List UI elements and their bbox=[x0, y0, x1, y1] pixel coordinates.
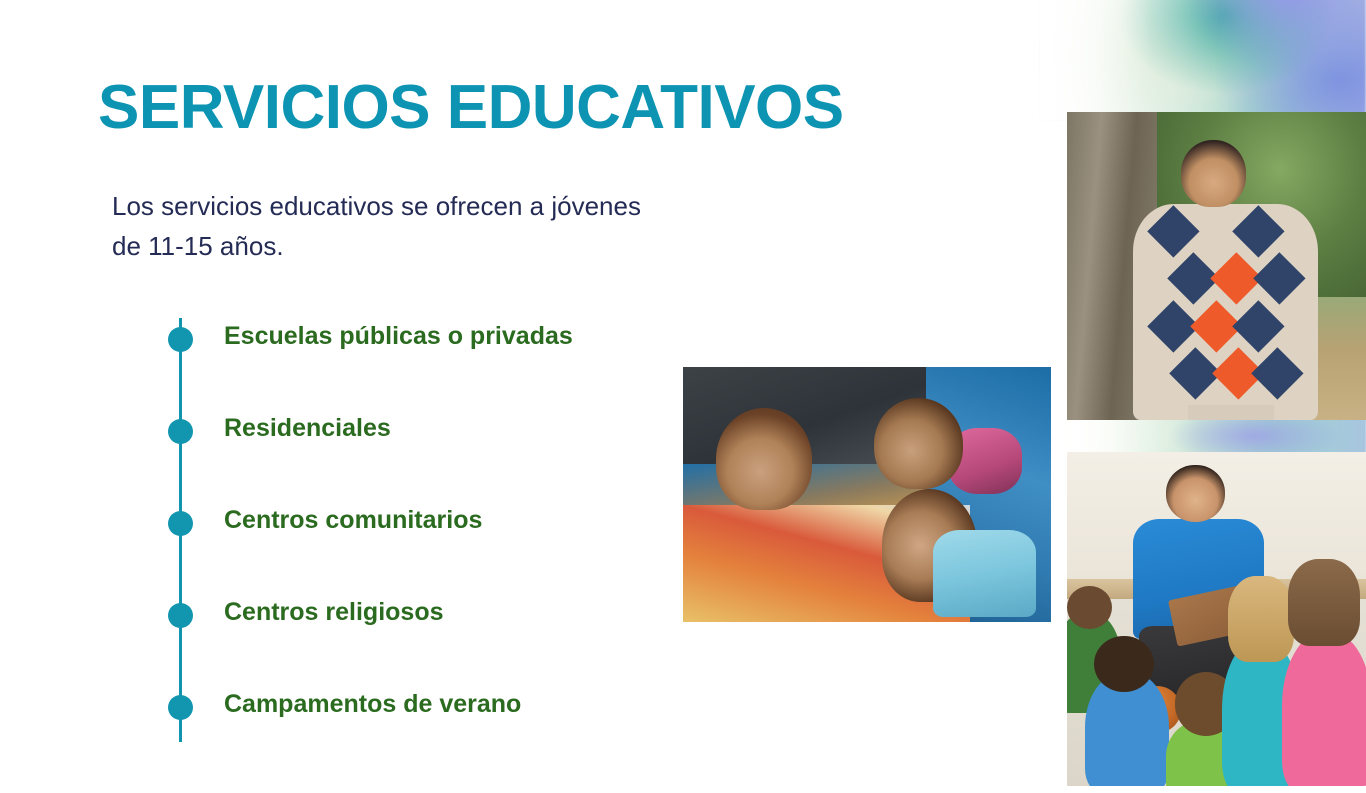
photo-coach-children bbox=[1067, 452, 1366, 786]
slide-canvas: SERVICIOS EDUCATIVOS Los servicios educa… bbox=[0, 0, 1366, 793]
gradient-band-right-fade bbox=[1040, 419, 1366, 453]
coach-face bbox=[1166, 465, 1226, 522]
sweater-hem bbox=[1188, 405, 1273, 420]
child-head bbox=[1067, 586, 1112, 629]
list-item: Centros comunitarios bbox=[168, 502, 688, 594]
timeline-item-label: Campamentos de verano bbox=[224, 690, 521, 719]
argyle-diamond bbox=[1147, 205, 1199, 257]
gradient-blob-top-right-fade bbox=[1040, 0, 1366, 120]
timeline-dot-icon bbox=[168, 695, 193, 720]
list-item: Escuelas públicas o privadas bbox=[168, 318, 688, 410]
photo-tent-children bbox=[683, 367, 1051, 622]
child-back bbox=[1282, 632, 1366, 786]
timeline-dot-icon bbox=[168, 511, 193, 536]
timeline-dot-icon bbox=[168, 603, 193, 628]
timeline-item-label: Centros comunitarios bbox=[224, 506, 482, 535]
list-item: Campamentos de verano bbox=[168, 686, 688, 778]
argyle-diamond bbox=[1233, 300, 1285, 352]
teen-face bbox=[1181, 140, 1247, 208]
argyle-diamond bbox=[1233, 205, 1285, 257]
child-head bbox=[1094, 636, 1154, 693]
argyle-diamond bbox=[1251, 348, 1303, 400]
timeline-dot-icon bbox=[168, 419, 193, 444]
blanket-cyan bbox=[933, 530, 1036, 617]
timeline-dot-icon bbox=[168, 327, 193, 352]
child-face bbox=[874, 398, 962, 490]
argyle-sweater bbox=[1133, 204, 1318, 420]
timeline-item-label: Centros religiosos bbox=[224, 598, 444, 627]
list-item: Centros religiosos bbox=[168, 594, 688, 686]
child-head bbox=[1228, 576, 1294, 663]
argyle-diamond bbox=[1253, 253, 1305, 305]
page-subtitle: Los servicios educativos se ofrecen a jó… bbox=[112, 186, 672, 267]
page-title: SERVICIOS EDUCATIVOS bbox=[98, 72, 844, 143]
list-item: Residenciales bbox=[168, 410, 688, 502]
timeline-item-label: Escuelas públicas o privadas bbox=[224, 322, 573, 351]
child-face bbox=[716, 408, 812, 510]
photo-teen-boy-tree bbox=[1067, 112, 1366, 420]
timeline-item-label: Residenciales bbox=[224, 414, 391, 443]
timeline-list: Escuelas públicas o privadas Residencial… bbox=[168, 318, 688, 778]
child-head bbox=[1288, 559, 1360, 646]
